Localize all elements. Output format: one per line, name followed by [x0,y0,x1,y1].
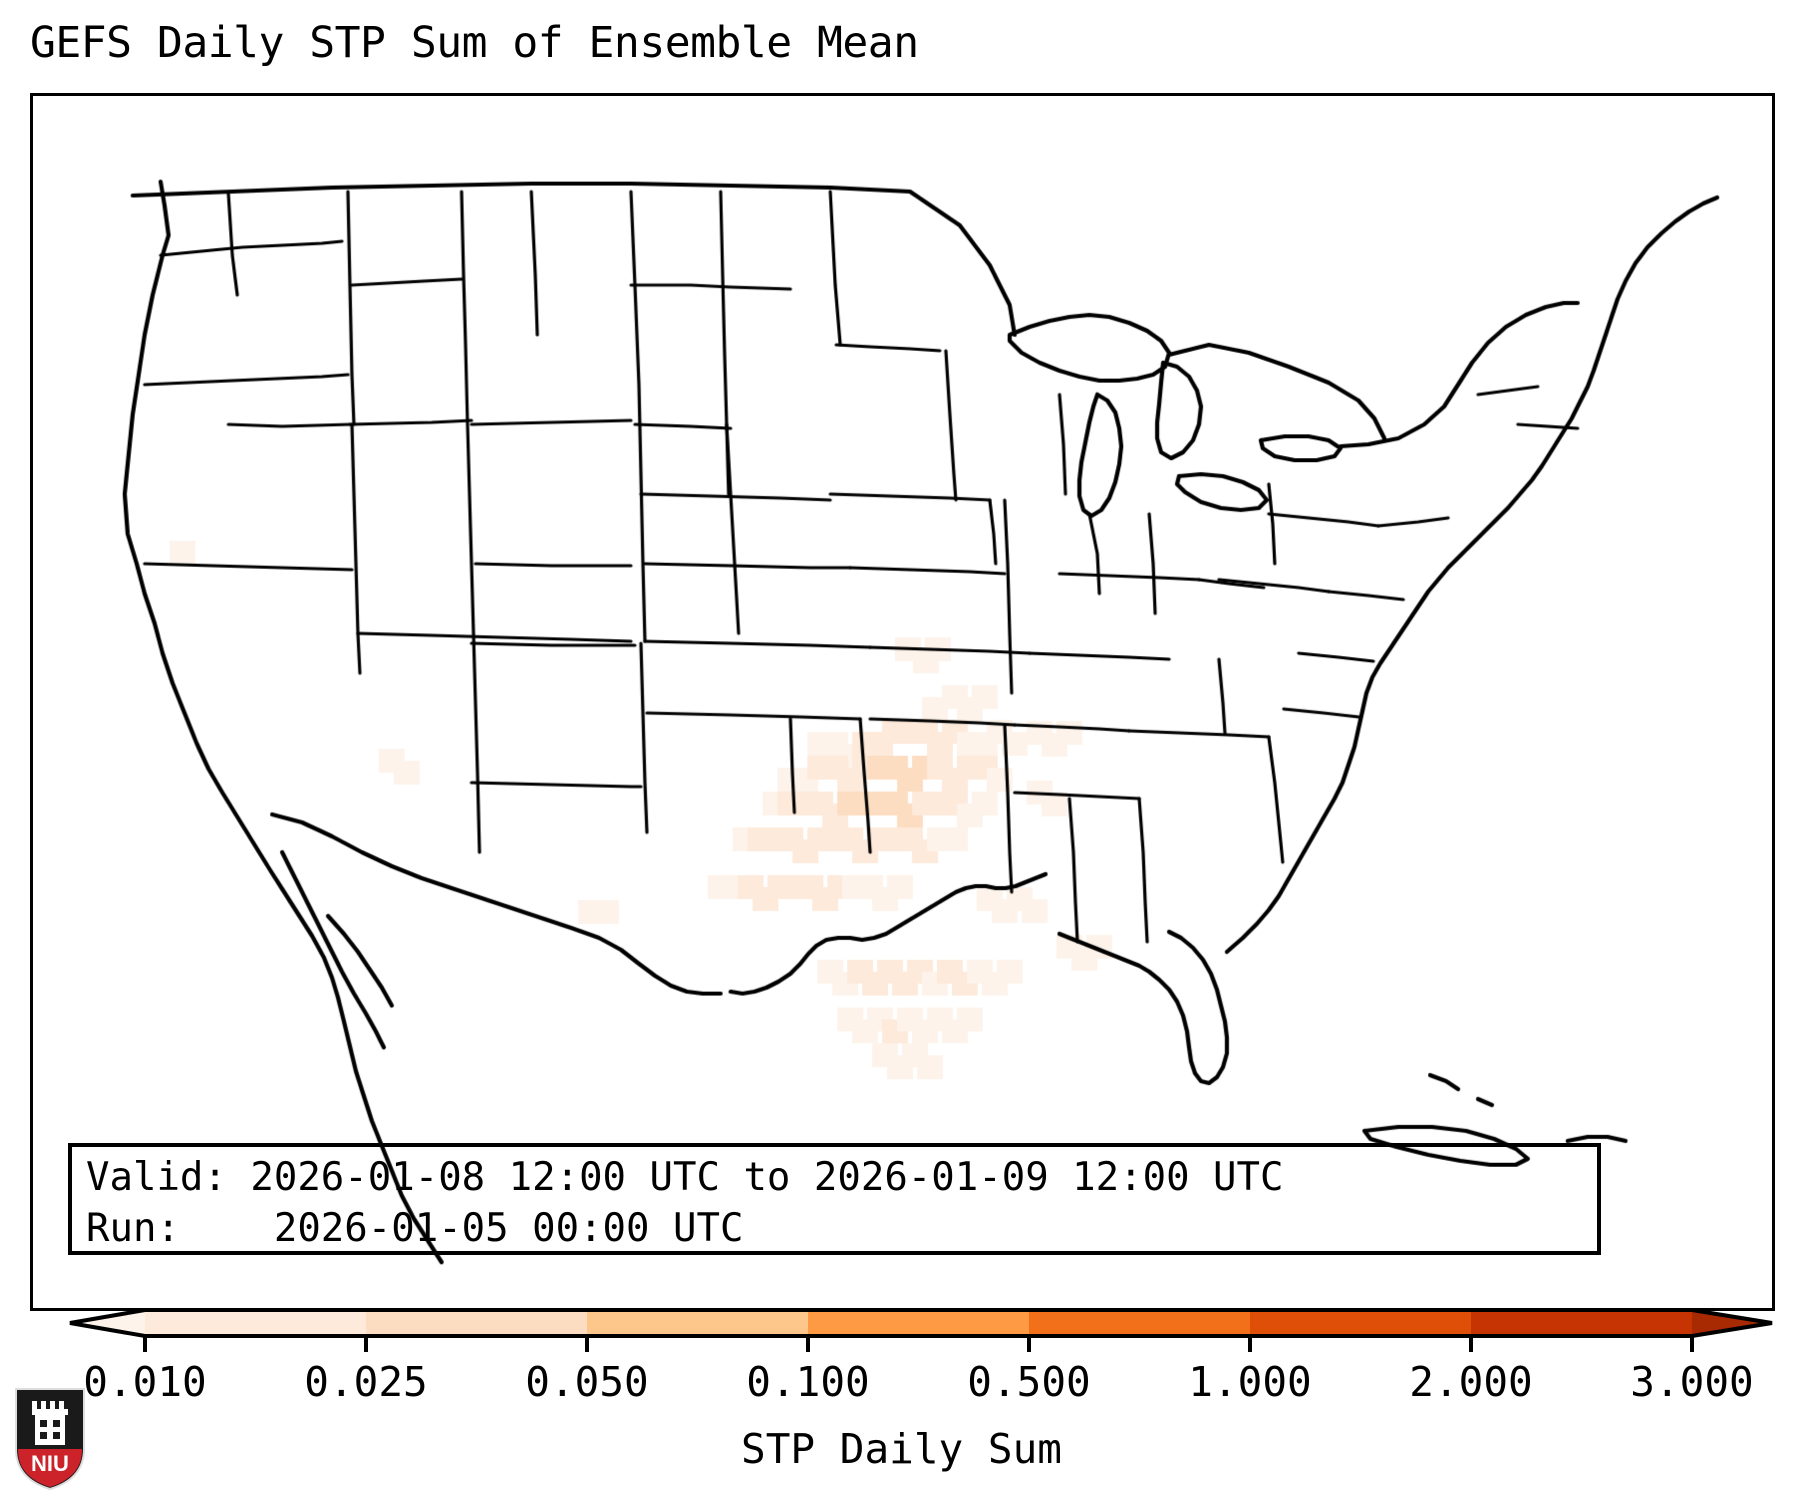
map-geography-layer [33,96,1772,1308]
colorbar-tick-label: 0.010 [83,1358,206,1406]
colorbar-tick-label: 2.000 [1409,1358,1532,1406]
colorbar-tick-label: 0.050 [525,1358,648,1406]
valid-run-info-box: Valid: 2026-01-08 12:00 UTC to 2026-01-0… [68,1143,1601,1255]
colorbar-tick-label: 0.500 [967,1358,1090,1406]
niu-logo: NIU [14,1387,86,1491]
colorbar-tick-label: 3.000 [1630,1358,1753,1406]
colorbar-axis-label: STP Daily Sum [0,1425,1803,1473]
page-title: GEFS Daily STP Sum of Ensemble Mean [30,18,919,68]
colorbar-tick-label: 0.025 [304,1358,427,1406]
map-panel [30,93,1775,1311]
niu-wordmark: NIU [31,1451,69,1476]
valid-time-line: Valid: 2026-01-08 12:00 UTC to 2026-01-0… [86,1152,1597,1203]
colorbar-tick-label: 1.000 [1188,1358,1311,1406]
colorbar-tick-label: 0.100 [746,1358,869,1406]
run-time-line: Run: 2026-01-05 00:00 UTC [86,1203,1597,1254]
